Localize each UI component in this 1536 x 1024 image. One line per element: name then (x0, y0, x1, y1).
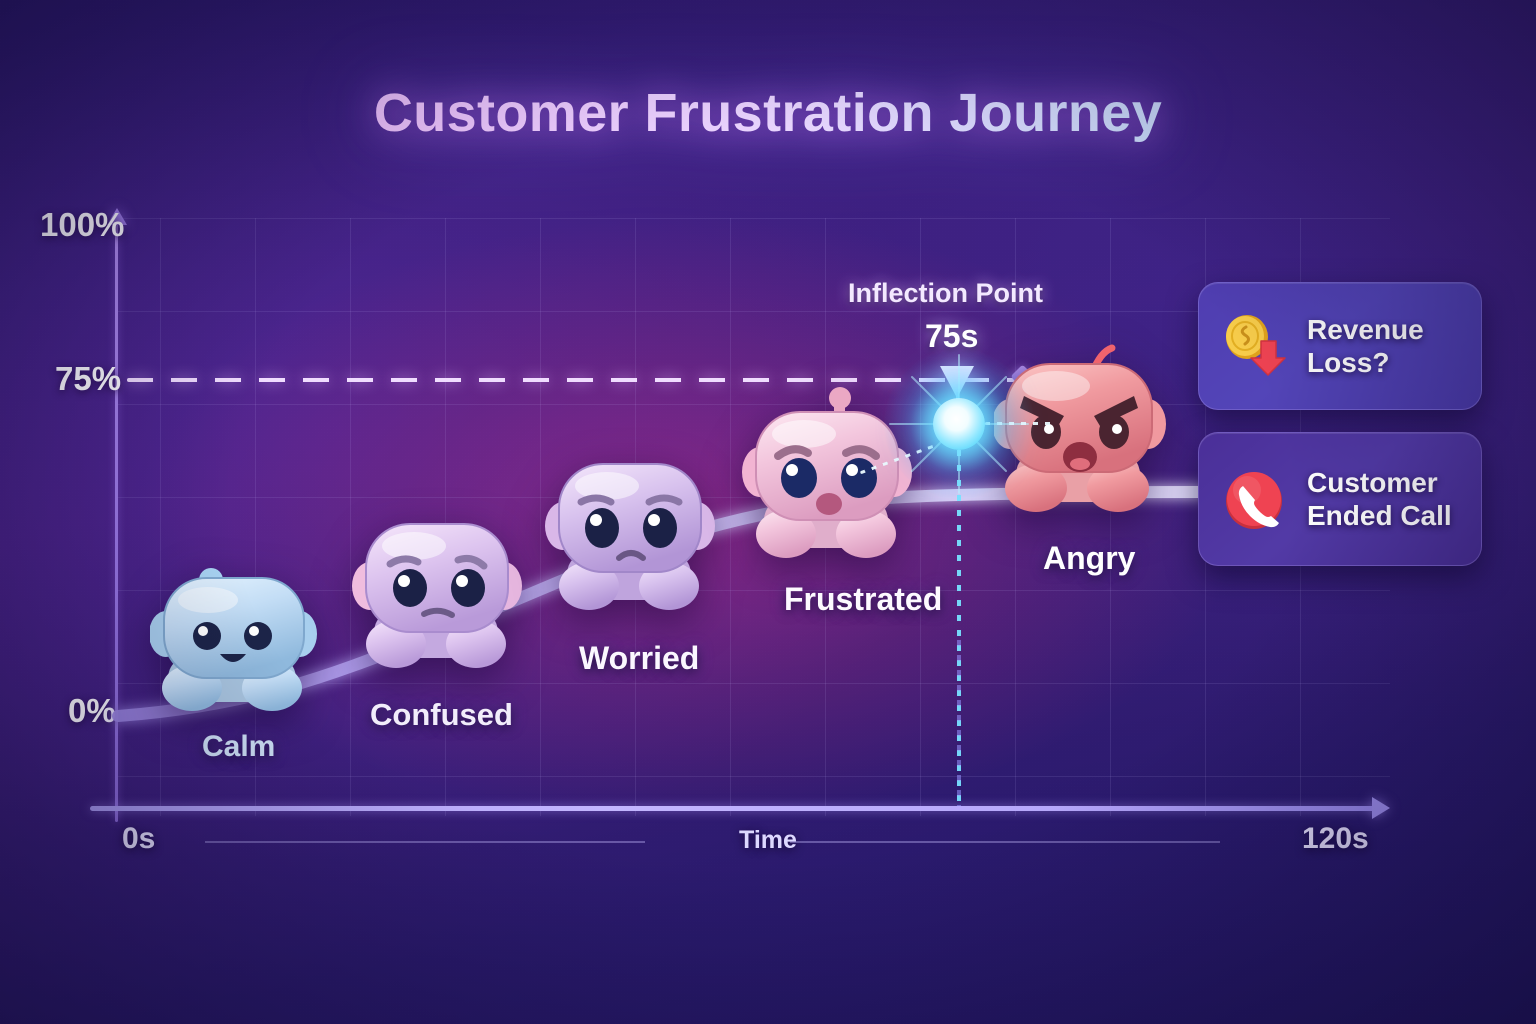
infographic-canvas: Customer Frustration Journey 100% 75% 0%… (0, 0, 1536, 1024)
inflection-node[interactable] (933, 398, 985, 450)
badge-revenue-text: Revenue Loss? (1307, 313, 1424, 379)
badge-call-line2: Ended Call (1307, 499, 1452, 532)
robot-worried-icon (545, 440, 725, 622)
stage-label-calm: Calm (202, 730, 275, 764)
badge-call-line1: Customer (1307, 466, 1452, 499)
stage-label-angry: Angry (1043, 540, 1135, 577)
inflection-title: Inflection Point (848, 278, 1043, 309)
badge-revenue-line2: Loss? (1307, 346, 1424, 379)
robot-calm-icon (150, 548, 330, 723)
coin-down-arrow-icon (1221, 313, 1287, 379)
stage-label-worried: Worried (579, 640, 699, 677)
badge-revenue-line1: Revenue (1307, 313, 1424, 346)
badge-call-text: Customer Ended Call (1307, 466, 1452, 532)
stage-label-confused: Confused (370, 697, 513, 733)
badge-revenue-loss[interactable]: Revenue Loss? (1198, 282, 1482, 410)
stage-label-frustrated: Frustrated (784, 581, 942, 618)
robot-confused-icon (352, 498, 532, 680)
inflection-dropline-fade (957, 640, 961, 806)
phone-hangup-icon (1221, 466, 1287, 532)
badge-customer-ended-call[interactable]: Customer Ended Call (1198, 432, 1482, 566)
inflection-spoke-right (985, 422, 1057, 425)
